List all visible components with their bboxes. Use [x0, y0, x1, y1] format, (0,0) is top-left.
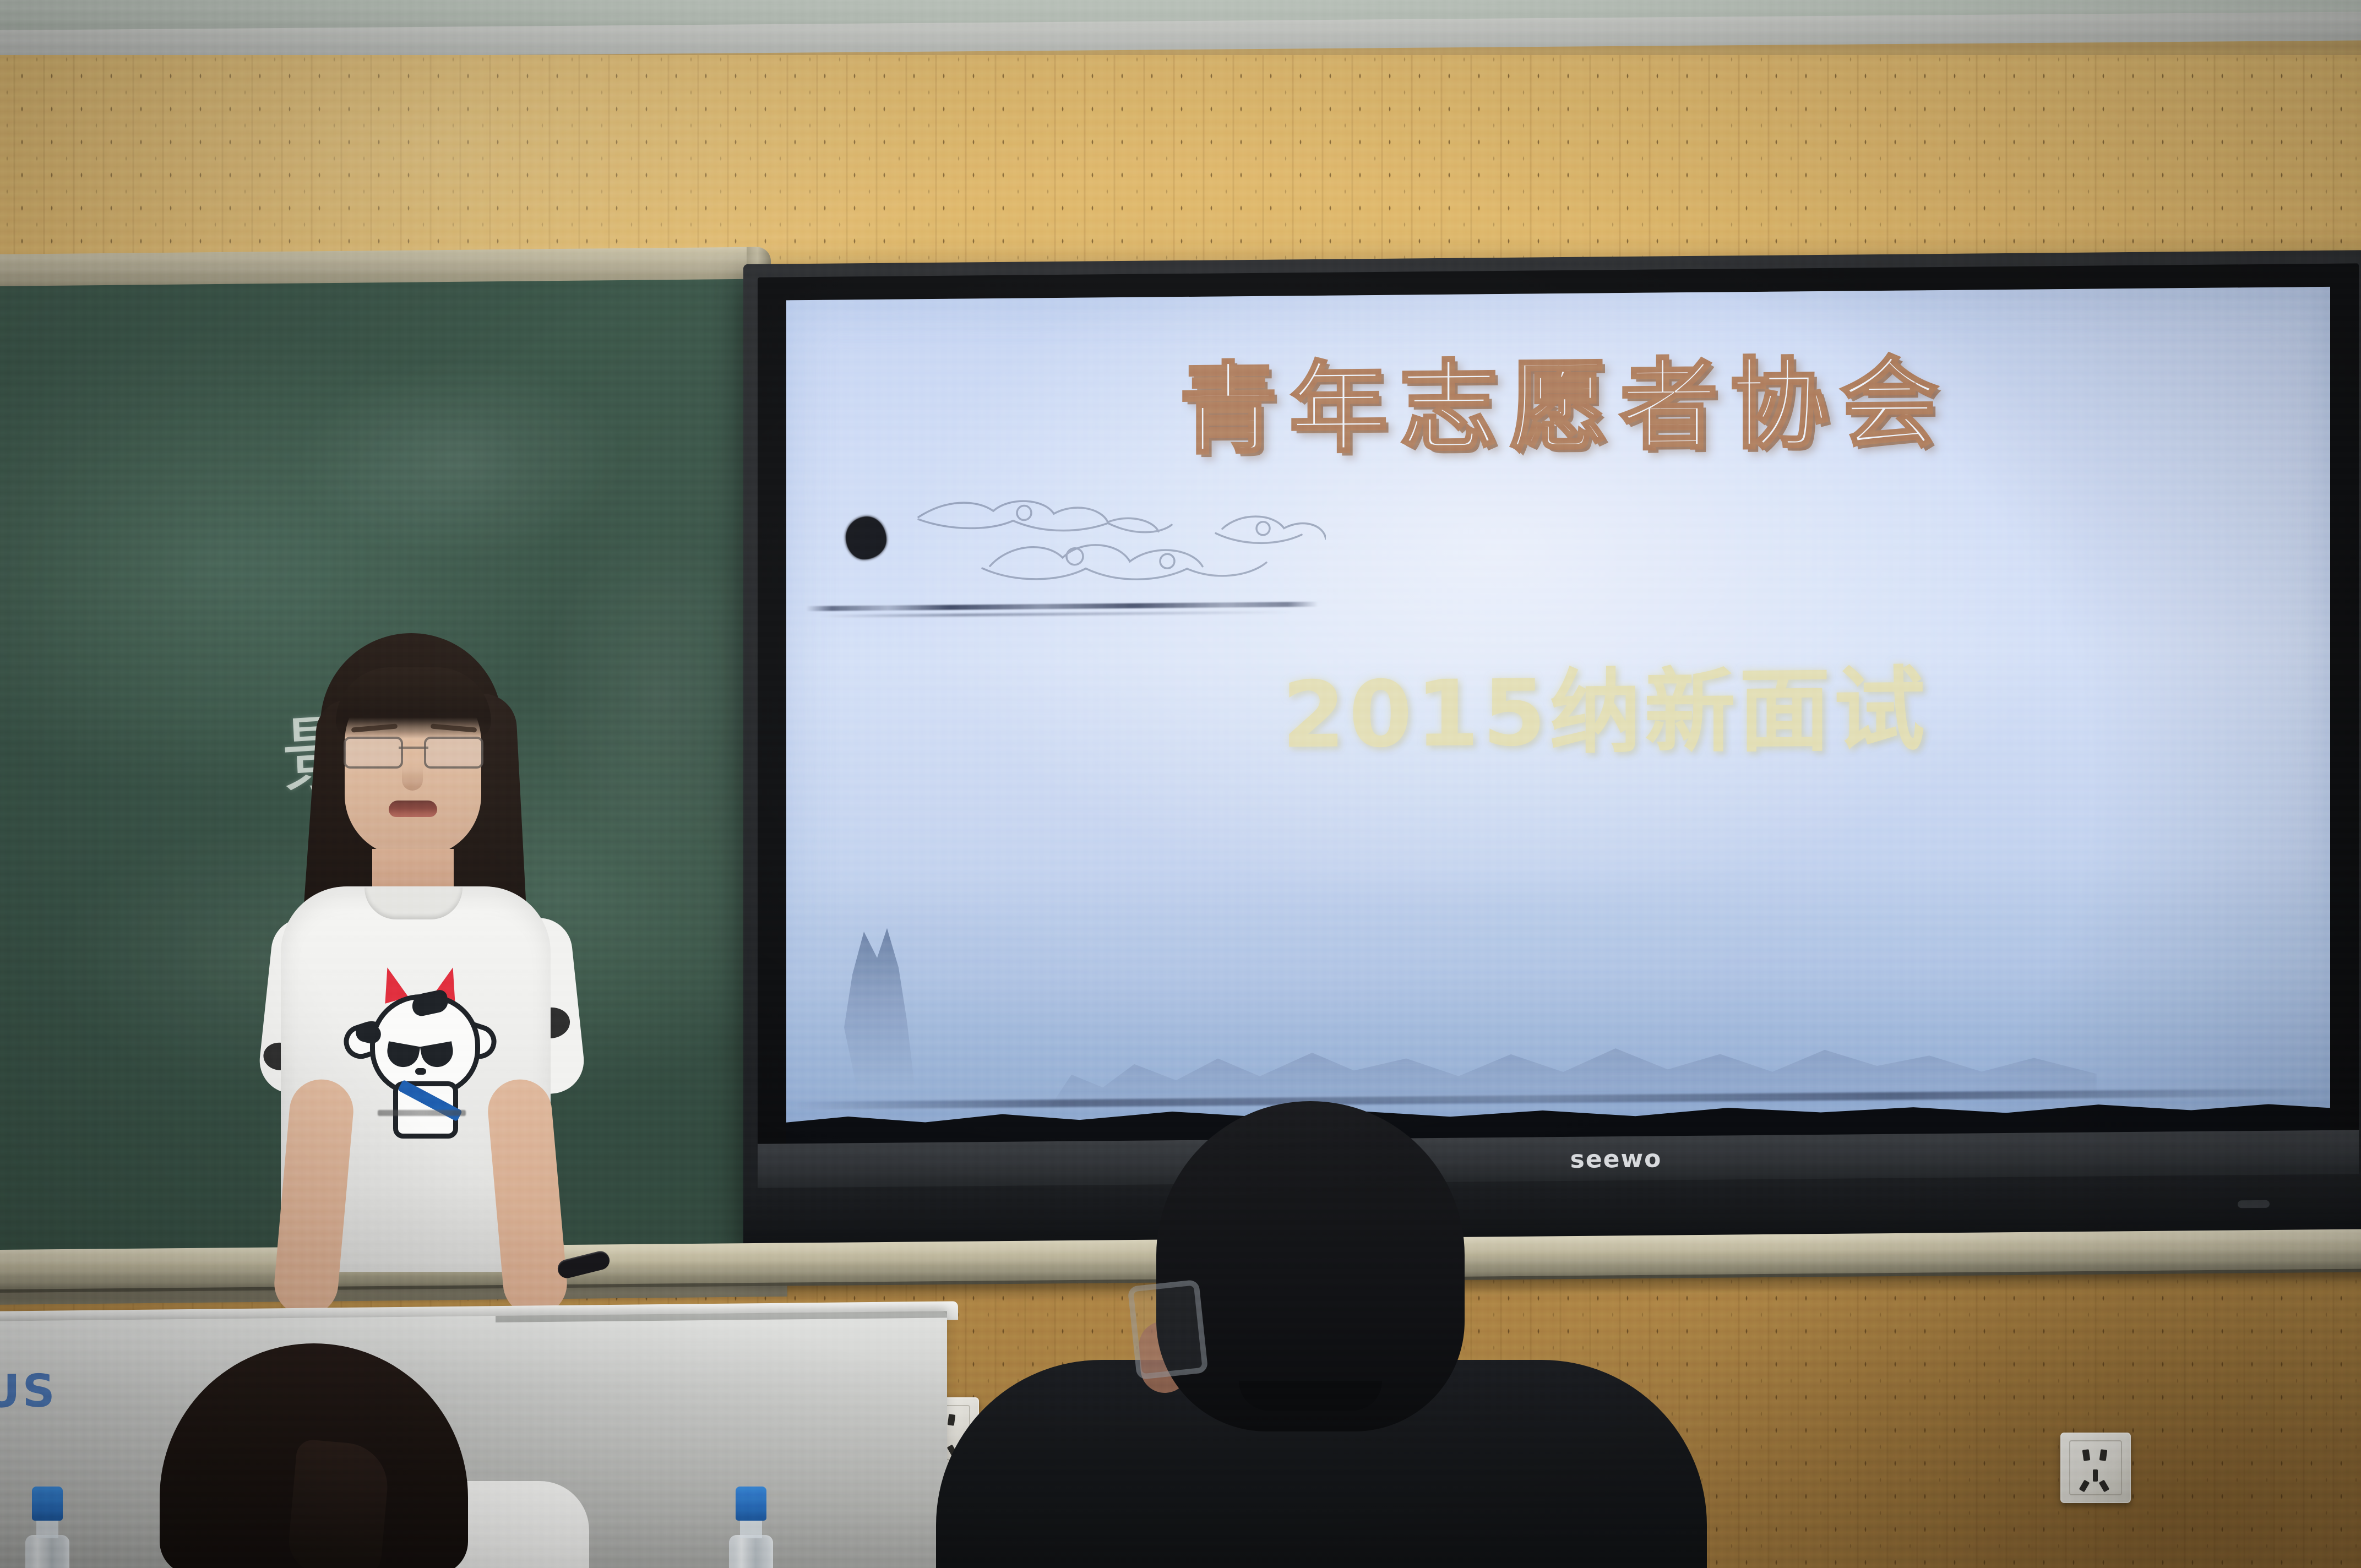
socket-pin-icon [2093, 1469, 2098, 1482]
socket-pin-icon [2099, 1449, 2107, 1461]
speaker-arm-right [485, 1077, 569, 1318]
bottle-cap-icon [32, 1487, 63, 1521]
bottle-neck [740, 1518, 762, 1538]
audience-person-center [975, 1101, 1668, 1568]
audience-left-hair-strand [286, 1439, 391, 1568]
socket-pin-icon [2082, 1449, 2091, 1461]
speaker-nose [402, 766, 423, 791]
wall-socket-right[interactable] [2060, 1433, 2131, 1503]
audience-center-collar [1239, 1381, 1382, 1411]
projection-screen[interactable]: 青年志愿者协会 2015纳新面试 [786, 287, 2330, 1162]
bottle-body [25, 1535, 69, 1568]
slide-subtitle: 2015纳新面试 [786, 661, 2330, 766]
socket-faceplate [2069, 1440, 2122, 1495]
classroom-presentation-scene: 景 么 [0, 0, 2361, 1568]
bottle-cap-icon [736, 1487, 766, 1521]
socket-pin-icon [947, 1414, 955, 1425]
ink-horizon-line [806, 602, 1318, 611]
water-bottle-left[interactable] [22, 1487, 73, 1568]
speaker-glasses-icon [344, 737, 483, 765]
bottle-neck [36, 1518, 58, 1538]
water-bottle-center[interactable] [726, 1487, 776, 1568]
laptop-brand-logo: US [0, 1365, 57, 1418]
glasses-bridge [399, 747, 428, 749]
ink-horizon-line-secondary [819, 611, 1293, 618]
glasses-lens-right [424, 737, 483, 769]
ink-dot-sun-icon [846, 516, 886, 560]
speaker-person [220, 633, 771, 1415]
audience-person-left [94, 1343, 589, 1568]
cow-mascot-graphic-icon [346, 963, 494, 1129]
mascot-nose [415, 1068, 426, 1075]
audience-center-glasses-icon [1127, 1280, 1208, 1380]
ink-cloud-motif-icon [885, 477, 1326, 602]
ir-sensor-icon [2238, 1200, 2270, 1208]
glasses-lens-left [344, 737, 403, 769]
mascot-caption-text [378, 1110, 466, 1116]
bottle-body [729, 1535, 773, 1568]
speaker-mouth [389, 801, 437, 817]
slide-title: 青年志愿者协会 [786, 349, 2330, 466]
